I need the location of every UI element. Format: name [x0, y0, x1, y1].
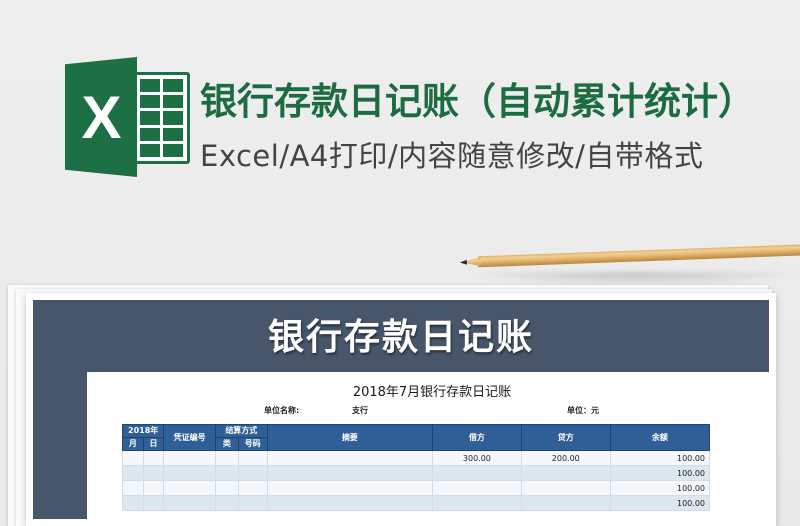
- cell-day[interactable]: [143, 481, 164, 496]
- cell-balance[interactable]: 100.00: [610, 481, 709, 496]
- table-row[interactable]: 300.00200.00100.00: [123, 451, 710, 466]
- header-day: 日: [143, 438, 164, 451]
- cell-settle-code[interactable]: [238, 466, 267, 481]
- excel-x-glyph: X: [65, 57, 137, 177]
- spreadsheet-sheet: 2018年7月银行存款日记账 单位名称: 支行 单位：元 2018年: [87, 372, 769, 519]
- template-preview-card[interactable]: 银行存款日记账 2018年7月银行存款日记账 单位名称: 支行 单位：元: [26, 293, 776, 526]
- cell-settle-code[interactable]: [238, 496, 267, 511]
- promo-banner: X 银行存款日记账（自动累计统计） Excel/A4打印/内容随意修改/自带格式: [0, 0, 800, 215]
- table-row[interactable]: 100.00: [123, 466, 710, 481]
- cell-settle-type[interactable]: [215, 496, 238, 511]
- org-name-label: 单位名称:: [264, 405, 299, 416]
- cell-credit[interactable]: [521, 481, 610, 496]
- header-debit: 借方: [432, 425, 521, 451]
- banner-title: 银行存款日记账（自动累计统计）: [200, 71, 755, 125]
- cell-month[interactable]: [123, 466, 144, 481]
- currency-unit-label: 单位：元: [567, 405, 599, 416]
- cell-description[interactable]: [267, 466, 432, 481]
- cell-voucher[interactable]: [164, 466, 216, 481]
- cell-settle-type[interactable]: [215, 451, 238, 466]
- journal-table-head: 2018年 凭证编号 结算方式 摘要 借方 贷方 余额 月 日 类: [123, 425, 710, 451]
- table-row[interactable]: 100.00: [123, 496, 710, 511]
- header-description: 摘要: [267, 425, 432, 451]
- cell-description[interactable]: [267, 481, 432, 496]
- sheet-meta-row: 单位名称: 支行 单位：元: [87, 404, 769, 418]
- cell-balance[interactable]: 100.00: [610, 466, 709, 481]
- pencil-lead: [460, 260, 467, 265]
- cell-credit[interactable]: 200.00: [521, 451, 610, 466]
- cell-balance[interactable]: 100.00: [610, 496, 709, 511]
- header-credit: 贷方: [521, 425, 610, 451]
- pencil-icon: [460, 243, 800, 272]
- header-voucher-no: 凭证编号: [164, 425, 216, 451]
- cell-credit[interactable]: [521, 466, 610, 481]
- cell-debit[interactable]: [432, 481, 521, 496]
- cell-voucher[interactable]: [164, 451, 216, 466]
- cell-balance[interactable]: 100.00: [610, 451, 709, 466]
- cell-debit[interactable]: [432, 496, 521, 511]
- header-settlement-code: 号码: [238, 438, 267, 451]
- header-row-group: 2018年 凭证编号 结算方式 摘要 借方 贷方 余额: [123, 425, 710, 438]
- cell-debit[interactable]: [432, 466, 521, 481]
- cell-settle-type[interactable]: [215, 466, 238, 481]
- excel-grid-panel: [133, 72, 190, 164]
- banner-subtitle: Excel/A4打印/内容随意修改/自带格式: [200, 133, 703, 175]
- cell-description[interactable]: [267, 496, 432, 511]
- screenshot-root: X 银行存款日记账（自动累计统计） Excel/A4打印/内容随意修改/自带格式…: [0, 0, 800, 526]
- excel-grid-cells: [140, 79, 183, 157]
- cell-settle-type[interactable]: [215, 481, 238, 496]
- sheet-title: 2018年7月银行存款日记账: [87, 381, 769, 400]
- cell-voucher[interactable]: [164, 481, 216, 496]
- header-year: 2018年: [123, 425, 164, 438]
- cell-credit[interactable]: [521, 496, 610, 511]
- header-settlement-method: 结算方式: [215, 425, 267, 438]
- cell-description[interactable]: [267, 451, 432, 466]
- header-month: 月: [123, 438, 144, 451]
- cell-month[interactable]: [123, 496, 144, 511]
- cell-day[interactable]: [143, 496, 164, 511]
- cell-voucher[interactable]: [164, 496, 216, 511]
- header-settlement-type: 类: [215, 438, 238, 451]
- document-title: 银行存款日记账: [33, 308, 769, 360]
- journal-table-body: 300.00200.00100.00100.00100.00100.00: [123, 451, 710, 511]
- header-balance: 余额: [610, 425, 709, 451]
- cell-day[interactable]: [143, 466, 164, 481]
- org-name-value: 支行: [352, 405, 368, 416]
- cell-settle-code[interactable]: [238, 451, 267, 466]
- excel-logo-icon: X: [55, 57, 190, 177]
- pencil-body: [478, 244, 800, 267]
- cell-debit[interactable]: 300.00: [432, 451, 521, 466]
- cell-settle-code[interactable]: [238, 481, 267, 496]
- pencil-shadow: [470, 272, 800, 286]
- cell-day[interactable]: [143, 451, 164, 466]
- cell-month[interactable]: [123, 481, 144, 496]
- table-row[interactable]: 100.00: [123, 481, 710, 496]
- preview-card-inner: 银行存款日记账 2018年7月银行存款日记账 单位名称: 支行 单位：元: [33, 300, 769, 519]
- cell-month[interactable]: [123, 451, 144, 466]
- journal-table: 2018年 凭证编号 结算方式 摘要 借方 贷方 余额 月 日 类: [122, 424, 710, 511]
